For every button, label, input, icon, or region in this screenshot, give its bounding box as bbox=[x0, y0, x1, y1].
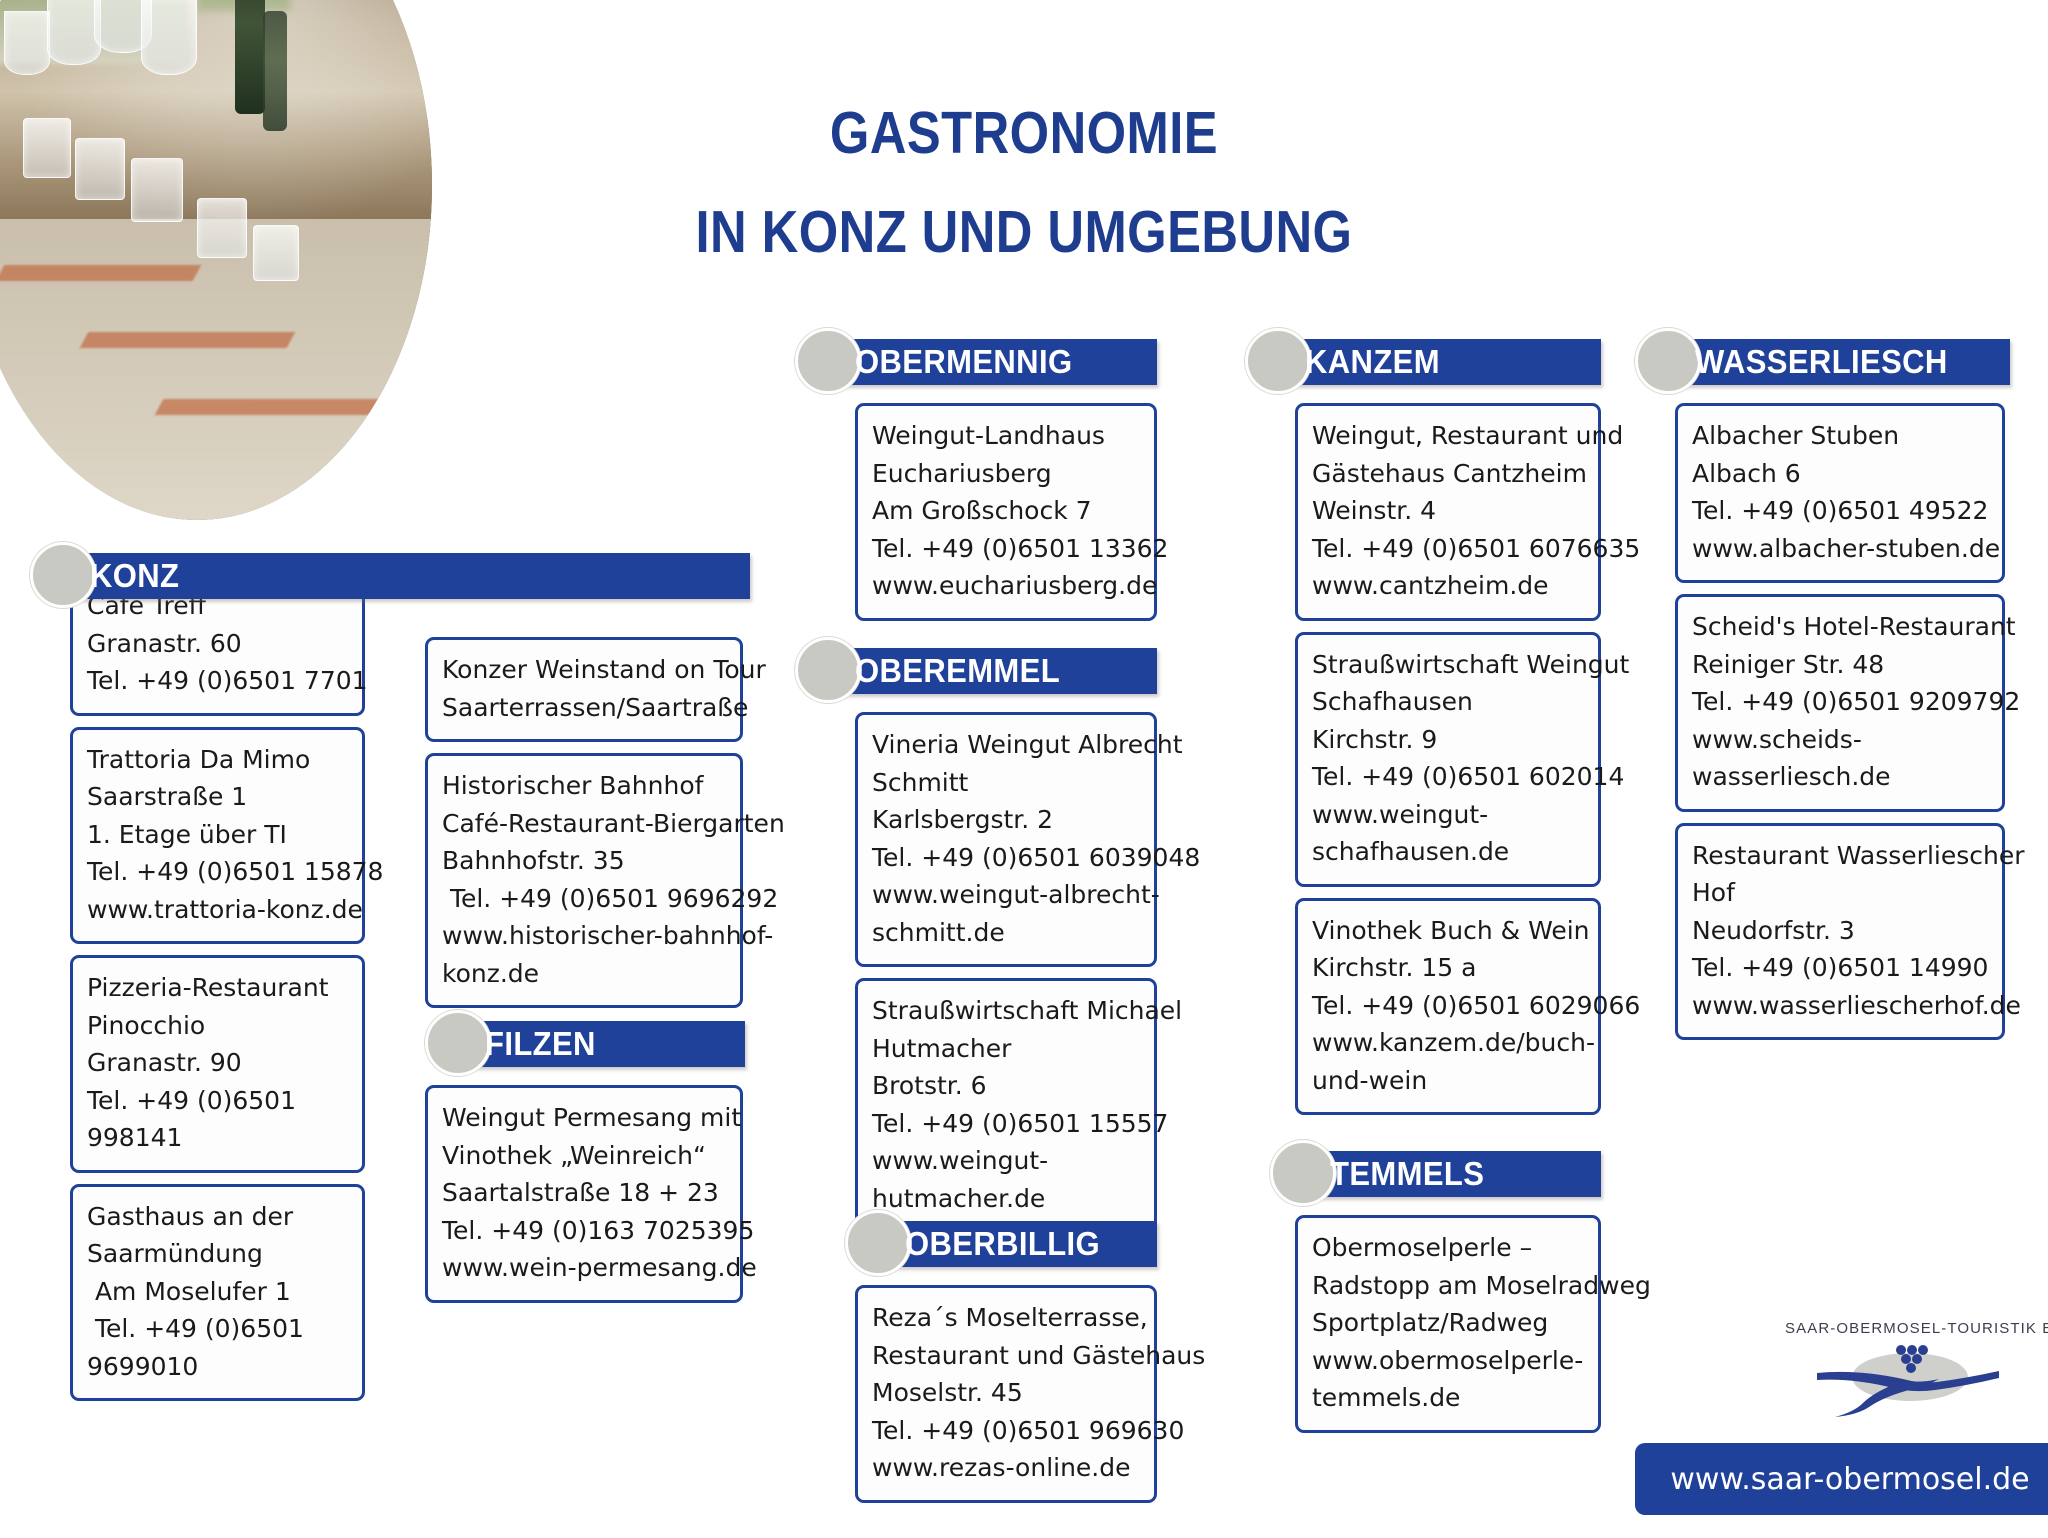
entry-line: Sportplatz/Radweg bbox=[1312, 1304, 1584, 1342]
entry-box: Scheid's Hotel-RestaurantReiniger Str. 4… bbox=[1675, 594, 2005, 812]
entry-box: Weingut Permesang mitVinothek „Weinreich… bbox=[425, 1085, 743, 1303]
entry-line: Neudorfstr. 3 bbox=[1692, 912, 1988, 950]
section-label: FILZEN bbox=[485, 1021, 596, 1067]
entry-line: 998141 bbox=[87, 1119, 348, 1157]
entry-line: Konzer Weinstand on Tour bbox=[442, 651, 726, 689]
entry-line: Tel. +49 (0)6501 6039048 bbox=[872, 839, 1140, 877]
entry-box: Obermoselperle –Radstopp am MoselradwegS… bbox=[1295, 1215, 1601, 1433]
entry-line: Weingut-Landhaus bbox=[872, 417, 1140, 455]
entry-line: Euchariusberg bbox=[872, 455, 1140, 493]
entry-line: www.scheids- bbox=[1692, 721, 1988, 759]
logo-graphic-icon bbox=[1785, 1341, 2035, 1419]
entry-line: Tel. +49 (0)6501 15878 bbox=[87, 853, 348, 891]
logo-mark bbox=[1785, 1341, 2035, 1419]
entry-line: 9699010 bbox=[87, 1348, 348, 1386]
entry-line: Historischer Bahnhof bbox=[442, 767, 726, 805]
photo-wine-glass bbox=[47, 0, 101, 65]
entry-line: Tel. +49 (0)6501 9209792 bbox=[1692, 683, 1988, 721]
entry-line: Café-Restaurant-Biergarten bbox=[442, 805, 726, 843]
header-circle-icon bbox=[425, 1010, 491, 1076]
section-header-temmels: TEMMELS bbox=[1270, 1151, 1601, 1197]
entry-line: www.historischer-bahnhof- bbox=[442, 917, 726, 955]
photo-placemat bbox=[155, 399, 380, 415]
entry-line: www.weingut-albrecht- bbox=[872, 876, 1140, 914]
entry-line: Bahnhofstr. 35 bbox=[442, 842, 726, 880]
entry-line: www.trattoria-konz.de bbox=[87, 891, 348, 929]
entry-line: Tel. +49 (0)6501 969630 bbox=[872, 1412, 1140, 1450]
entry-line: Weinstr. 4 bbox=[1312, 492, 1584, 530]
entry-line: Am Großschock 7 bbox=[872, 492, 1140, 530]
entry-line: www.wasserliescherhof.de bbox=[1692, 987, 1988, 1025]
entry-box: Vineria Weingut AlbrechtSchmittKarlsberg… bbox=[855, 712, 1157, 967]
entry-line: Saartalstraße 18 + 23 bbox=[442, 1174, 726, 1212]
section-header-konz: KONZ bbox=[30, 553, 750, 599]
entry-box: Pizzeria-RestaurantPinocchioGranastr. 90… bbox=[70, 955, 365, 1173]
section-header-filzen: FILZEN bbox=[425, 1021, 745, 1067]
entry-line: Pizzeria-Restaurant bbox=[87, 969, 348, 1007]
entry-line: Saarmündung bbox=[87, 1235, 348, 1273]
entry-line: Weingut, Restaurant und bbox=[1312, 417, 1584, 455]
entry-line: Tel. +49 (0)6501 13362 bbox=[872, 530, 1140, 568]
entry-line: Obermoselperle – bbox=[1312, 1229, 1584, 1267]
page-title-line1: GASTRONOMIE bbox=[143, 104, 1904, 163]
entry-line: temmels.de bbox=[1312, 1379, 1584, 1417]
section-header-kanzem: KANZEM bbox=[1245, 339, 1601, 385]
entry-line: Tel. +49 (0)6501 15557 bbox=[872, 1105, 1140, 1143]
entry-line: Vinothek „Weinreich“ bbox=[442, 1137, 726, 1175]
section-header-wasserliesch: WASSERLIESCH bbox=[1635, 339, 2010, 385]
header-circle-icon bbox=[1270, 1140, 1336, 1206]
entry-line: Schafhausen bbox=[1312, 683, 1584, 721]
page-title-line2: IN KONZ UND UMGEBUNG bbox=[143, 203, 1904, 262]
entry-line: Tel. +49 (0)6501 bbox=[87, 1082, 348, 1120]
entry-column-oberemmel: Vineria Weingut AlbrechtSchmittKarlsberg… bbox=[855, 712, 1157, 1244]
entry-line: www.kanzem.de/buch- bbox=[1312, 1024, 1584, 1062]
entry-line: Tel. +49 (0)6501 14990 bbox=[1692, 949, 1988, 987]
entry-line: Karlsbergstr. 2 bbox=[872, 801, 1140, 839]
entry-column-obermennig: Weingut-LandhausEuchariusbergAm Großscho… bbox=[855, 403, 1157, 632]
entry-line: Kirchstr. 15 a bbox=[1312, 949, 1584, 987]
entry-box: Historischer BahnhofCafé-Restaurant-Bier… bbox=[425, 753, 743, 1008]
entry-line: Weingut Permesang mit bbox=[442, 1099, 726, 1137]
entry-line: Albacher Stuben bbox=[1692, 417, 1988, 455]
entry-line: Saarstraße 1 bbox=[87, 778, 348, 816]
photo-wine-glass bbox=[141, 0, 197, 75]
entry-line: hutmacher.de bbox=[872, 1180, 1140, 1218]
entry-line: Hof bbox=[1692, 874, 1988, 912]
section-label: KANZEM bbox=[1305, 339, 1440, 385]
entry-box: Albacher StubenAlbach 6Tel. +49 (0)6501 … bbox=[1675, 403, 2005, 583]
entry-line: Tel. +49 (0)6501 6029066 bbox=[1312, 987, 1584, 1025]
entry-line: www.weingut- bbox=[872, 1142, 1140, 1180]
entry-line: Am Moselufer 1 bbox=[87, 1273, 348, 1311]
entry-line: Gasthaus an der bbox=[87, 1198, 348, 1236]
page-title: GASTRONOMIE IN KONZ UND UMGEBUNG bbox=[143, 104, 1904, 262]
entry-line: www.cantzheim.de bbox=[1312, 567, 1584, 605]
photo-placemat bbox=[0, 265, 201, 281]
header-circle-icon bbox=[795, 637, 861, 703]
photo-tumbler bbox=[75, 138, 125, 200]
entry-line: Saarterrassen/Saartraße bbox=[442, 689, 726, 727]
entry-box: Trattoria Da MimoSaarstraße 11. Etage üb… bbox=[70, 727, 365, 945]
header-circle-icon bbox=[1635, 328, 1701, 394]
entry-line: Kirchstr. 9 bbox=[1312, 721, 1584, 759]
entry-line: www.weingut- bbox=[1312, 796, 1584, 834]
entry-line: Straußwirtschaft Weingut bbox=[1312, 646, 1584, 684]
section-label: OBEREMMEL bbox=[855, 648, 1060, 694]
entry-column-wasserliesch: Albacher StubenAlbach 6Tel. +49 (0)6501 … bbox=[1675, 403, 2005, 1051]
entry-line: Granastr. 90 bbox=[87, 1044, 348, 1082]
entry-line: www.wein-permesang.de bbox=[442, 1249, 726, 1287]
entry-line: Tel. +49 (0)6501 7701 bbox=[87, 662, 348, 700]
entry-line: 1. Etage über TI bbox=[87, 816, 348, 854]
entry-column-konz-1: Café TreffGranastr. 60Tel. +49 (0)6501 7… bbox=[70, 573, 365, 1412]
section-label: TEMMELS bbox=[1330, 1151, 1484, 1197]
photo-tablecloth bbox=[0, 219, 432, 521]
entry-line: Tel. +49 (0)163 7025395 bbox=[442, 1212, 726, 1250]
section-label: KONZ bbox=[90, 553, 179, 599]
entry-line: Tel. +49 (0)6501 6076635 bbox=[1312, 530, 1584, 568]
entry-line: Tel. +49 (0)6501 9696292 bbox=[442, 880, 726, 918]
entry-column-filzen: Weingut Permesang mitVinothek „Weinreich… bbox=[425, 1085, 743, 1314]
header-circle-icon bbox=[845, 1210, 911, 1276]
entry-line: Scheid's Hotel-Restaurant bbox=[1692, 608, 1988, 646]
entry-line: Trattoria Da Mimo bbox=[87, 741, 348, 779]
entry-line: Tel. +49 (0)6501 602014 bbox=[1312, 758, 1584, 796]
entry-column-oberbillig: Reza´s Moselterrasse,Restaurant und Gäst… bbox=[855, 1285, 1157, 1514]
entry-line: Reza´s Moselterrasse, bbox=[872, 1299, 1140, 1337]
entry-box: Restaurant WasserliescherHofNeudorfstr. … bbox=[1675, 823, 2005, 1041]
entry-column-kanzem: Weingut, Restaurant undGästehaus Cantzhe… bbox=[1295, 403, 1601, 1126]
entry-line: www.euchariusberg.de bbox=[872, 567, 1140, 605]
entry-box: Weingut-LandhausEuchariusbergAm Großscho… bbox=[855, 403, 1157, 621]
entry-line: schmitt.de bbox=[872, 914, 1140, 952]
entry-line: und-wein bbox=[1312, 1062, 1584, 1100]
section-label: OBERMENNIG bbox=[855, 339, 1072, 385]
section-label: WASSERLIESCH bbox=[1695, 339, 1948, 385]
header-circle-icon bbox=[30, 542, 96, 608]
entry-box: Straußwirtschaft MichaelHutmacherBrotstr… bbox=[855, 978, 1157, 1233]
section-header-obermennig: OBERMENNIG bbox=[795, 339, 1157, 385]
section-label: OBERBILLIG bbox=[905, 1221, 1100, 1267]
header-circle-icon bbox=[1245, 328, 1311, 394]
entry-line: Straußwirtschaft Michael bbox=[872, 992, 1140, 1030]
entry-line: wasserliesch.de bbox=[1692, 758, 1988, 796]
entry-box: Reza´s Moselterrasse,Restaurant und Gäst… bbox=[855, 1285, 1157, 1503]
entry-line: Vinothek Buch & Wein bbox=[1312, 912, 1584, 950]
section-header-oberbillig: OBERBILLIG bbox=[845, 1221, 1157, 1267]
entry-line: Hutmacher bbox=[872, 1030, 1140, 1068]
entry-line: Gästehaus Cantzheim bbox=[1312, 455, 1584, 493]
entry-line: Reiniger Str. 48 bbox=[1692, 646, 1988, 684]
entry-line: Schmitt bbox=[872, 764, 1140, 802]
entry-line: Granastr. 60 bbox=[87, 625, 348, 663]
entry-column-konz-2: Konzer Weinstand on TourSaarterrassen/Sa… bbox=[425, 637, 743, 1019]
entry-box: Gasthaus an derSaarmündung Am Moselufer … bbox=[70, 1184, 365, 1402]
logo-org-name: SAAR-OBERMOSEL-TOURISTIK E.V. bbox=[1785, 1320, 2035, 1337]
entry-line: Brotstr. 6 bbox=[872, 1067, 1140, 1105]
organisation-logo: SAAR-OBERMOSEL-TOURISTIK E.V. bbox=[1785, 1320, 2035, 1419]
entry-box: Konzer Weinstand on TourSaarterrassen/Sa… bbox=[425, 637, 743, 742]
entry-box: Weingut, Restaurant undGästehaus Cantzhe… bbox=[1295, 403, 1601, 621]
section-header-oberemmel: OBEREMMEL bbox=[795, 648, 1157, 694]
entry-line: Pinocchio bbox=[87, 1007, 348, 1045]
photo-placemat bbox=[80, 332, 295, 348]
photo-tumbler bbox=[23, 118, 71, 178]
entry-line: Moselstr. 45 bbox=[872, 1374, 1140, 1412]
entry-line: Radstopp am Moselradweg bbox=[1312, 1267, 1584, 1305]
entry-line: Tel. +49 (0)6501 49522 bbox=[1692, 492, 1988, 530]
entry-box: Straußwirtschaft WeingutSchafhausenKirch… bbox=[1295, 632, 1601, 887]
entry-line: www.rezas-online.de bbox=[872, 1449, 1140, 1487]
entry-line: www.albacher-stuben.de bbox=[1692, 530, 1988, 568]
entry-box: Vinothek Buch & WeinKirchstr. 15 aTel. +… bbox=[1295, 898, 1601, 1116]
entry-line: www.obermoselperle- bbox=[1312, 1342, 1584, 1380]
entry-line: Vineria Weingut Albrecht bbox=[872, 726, 1140, 764]
entry-line: Tel. +49 (0)6501 bbox=[87, 1310, 348, 1348]
photo-wine-glass bbox=[4, 11, 50, 75]
entry-line: konz.de bbox=[442, 955, 726, 993]
header-circle-icon bbox=[795, 328, 861, 394]
entry-line: Restaurant Wasserliescher bbox=[1692, 837, 1988, 875]
photo-bottle bbox=[235, 0, 265, 114]
entry-column-temmels: Obermoselperle –Radstopp am MoselradwegS… bbox=[1295, 1215, 1601, 1444]
entry-line: Restaurant und Gästehaus bbox=[872, 1337, 1140, 1375]
entry-line: Albach 6 bbox=[1692, 455, 1988, 493]
entry-line: schafhausen.de bbox=[1312, 833, 1584, 871]
footer-website-url[interactable]: www.saar-obermosel.de bbox=[1635, 1443, 2048, 1515]
